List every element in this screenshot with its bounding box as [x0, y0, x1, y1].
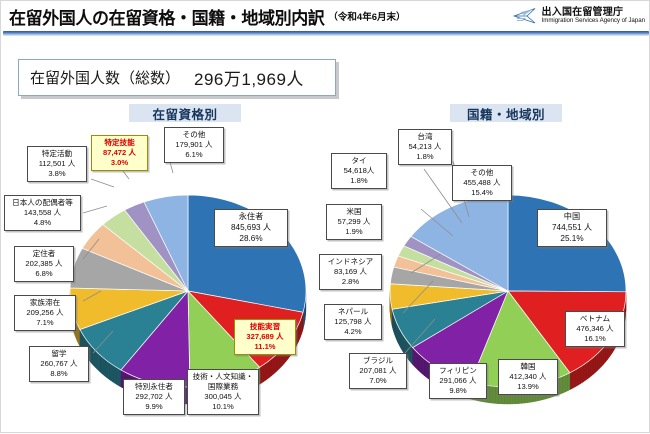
label-count: 57,299 人 — [330, 217, 378, 227]
section-banner-status: 在留資格別 — [129, 104, 241, 122]
label-title: ベトナム — [569, 314, 621, 324]
label-count: 300,045 人 — [191, 392, 255, 402]
page-title: 在留外国人の在留資格・国籍・地域別内訳 — [9, 4, 324, 29]
label-taiwan: 台湾 54,213 人 1.8% — [398, 129, 452, 165]
label-count: 845,693 人 — [218, 223, 284, 234]
label-other-nationality: その他 455,488 人 15.4% — [452, 165, 512, 201]
label-percent: 6.8% — [18, 269, 70, 279]
label-percent: 11.1% — [238, 342, 292, 352]
pie-slice-side — [426, 360, 427, 378]
label-percent: 28.6% — [218, 234, 284, 245]
pie-slice-side — [422, 356, 423, 374]
label-percent: 1.8% — [335, 176, 383, 186]
pie-slice-side — [275, 355, 277, 373]
label-percent: 6.1% — [168, 150, 220, 160]
label-title: 特定技能 — [95, 138, 144, 148]
label-percent: 4.2% — [328, 327, 378, 337]
label-student: 留学 260,767 人 8.8% — [29, 346, 89, 382]
pie-slice-side — [573, 370, 576, 389]
label-china: 中国 744,551 人 25.1% — [537, 209, 607, 247]
label-count: 209,256 人 — [18, 308, 72, 318]
pie-slice-side — [419, 354, 420, 372]
label-count: 87,472 人 — [95, 148, 144, 158]
pie-slice-side — [562, 375, 565, 393]
pie-slice-side — [268, 360, 270, 378]
pie-slice-side — [602, 347, 604, 366]
label-title: ブラジル — [353, 356, 403, 366]
pie-slice-side — [604, 345, 606, 364]
pie-slice-side — [115, 366, 116, 384]
pie-slice-side — [270, 359, 272, 377]
label-title: その他 — [456, 168, 508, 178]
label-percent: 25.1% — [541, 234, 603, 245]
section-banner-nationality: 国籍・地域別 — [450, 104, 562, 122]
label-title: 台湾 — [402, 132, 448, 142]
label-count: 54,213 人 — [402, 142, 448, 152]
label-title: その他 — [168, 130, 220, 140]
label-count: 143,558 人 — [8, 208, 77, 218]
label-percent: 15.4% — [456, 188, 508, 198]
label-nepal: ネパール 125,798 人 4.2% — [324, 304, 382, 340]
label-count: 125,798 人 — [328, 317, 378, 327]
label-count: 412,340 人 — [502, 372, 554, 382]
pie-slice-side — [578, 367, 581, 386]
pie-slice-side — [583, 363, 586, 382]
pie-slice-side — [118, 368, 119, 386]
pie-slice-side — [490, 386, 493, 403]
label-percent: 7.1% — [18, 318, 72, 328]
label-count: 476,346 人 — [569, 324, 621, 334]
pie-slice-side — [570, 371, 573, 389]
pie-slice-side — [273, 356, 275, 374]
pie-slice-side — [487, 385, 490, 402]
agency-identity: 出入国在留管理庁 Immigration Services Agency of … — [512, 6, 645, 26]
label-title: 米国 — [330, 207, 378, 217]
pie-slice-side — [110, 363, 111, 381]
label-percent: 2.8% — [323, 277, 378, 287]
pie-slice-side — [567, 373, 569, 391]
label-title: 韓国 — [502, 362, 554, 372]
label-count: 112,501 人 — [31, 159, 83, 169]
total-label: 在留外国人数（総数） — [30, 67, 180, 88]
label-korea: 韓国 412,340 人 13.9% — [498, 359, 558, 395]
label-designated-activities: 特定活動 112,501 人 3.8% — [27, 146, 87, 182]
pie-slice-side — [116, 367, 117, 385]
pie-slice-side — [119, 369, 120, 387]
label-title: 特定活動 — [31, 149, 83, 159]
pie-slice-side — [581, 365, 584, 384]
label-title: 留学 — [33, 349, 85, 359]
total-value: 296万1,969人 — [194, 65, 304, 90]
label-title: インドネシア — [323, 257, 378, 267]
label-percent: 10.1% — [191, 402, 255, 412]
label-title-2: 国際業務 — [191, 382, 255, 392]
label-engineer-specialist: 技術・人文知識・ 国際業務 300,045 人 10.1% — [187, 369, 259, 415]
label-percent: 1.8% — [402, 152, 448, 162]
label-brazil: ブラジル 207,081 人 7.0% — [349, 353, 407, 389]
label-percent: 3.8% — [31, 169, 83, 179]
label-count: 455,488 人 — [456, 178, 508, 188]
label-count: 54,618人 — [335, 166, 383, 176]
pie-slice-side — [575, 368, 578, 387]
label-count: 83,169 人 — [323, 267, 378, 277]
pie-slice-side — [261, 365, 263, 383]
infographic-page: 在留外国人の在留資格・国籍・地域別内訳 （令和4年6月末） 出入国在留管理庁 I… — [0, 0, 650, 433]
label-percent: 8.8% — [33, 369, 85, 379]
label-title: 技術・人文知識・ — [191, 372, 255, 382]
label-percent: 4.8% — [8, 218, 77, 228]
label-title: 特別永住者 — [127, 382, 181, 392]
label-title: ネパール — [328, 307, 378, 317]
pie-slice-side — [111, 364, 112, 382]
pie-slice-side — [114, 366, 115, 384]
label-other-status: その他 179,901 人 6.1% — [164, 127, 224, 163]
pie-slice-side — [260, 366, 262, 384]
label-count: 260,767 人 — [33, 359, 85, 369]
label-philippines: フィリピン 291,066 人 9.8% — [429, 363, 487, 399]
label-permanent-resident: 永住者 845,693 人 28.6% — [214, 209, 288, 247]
immigration-agency-logo-icon — [512, 6, 538, 26]
label-specified-skilled-worker: 特定技能 87,472 人 3.0% — [91, 135, 148, 171]
label-title: 日本人の配偶者等 — [8, 198, 77, 208]
pie-slice-side — [595, 354, 597, 373]
pie-slice-side — [588, 359, 590, 378]
label-title: 定住者 — [18, 249, 70, 259]
label-thailand: タイ 54,618人 1.8% — [331, 153, 387, 189]
page-header: 在留外国人の在留資格・国籍・地域別内訳 （令和4年6月末） 出入国在留管理庁 I… — [1, 1, 650, 31]
label-count: 207,081 人 — [353, 366, 403, 376]
label-title: タイ — [335, 156, 383, 166]
pie-slice-side — [420, 355, 421, 373]
label-long-term-resident: 定住者 202,385 人 6.8% — [14, 246, 74, 282]
header-divider — [3, 31, 649, 36]
page-title-date: （令和4年6月末） — [328, 9, 405, 24]
label-technical-intern-training: 技能実習 327,689 人 11.1% — [234, 319, 296, 355]
section-banner-status-label: 在留資格別 — [152, 104, 217, 123]
pie-slice-side — [267, 361, 269, 379]
label-spouse-of-japanese: 日本人の配偶者等 143,558 人 4.8% — [4, 195, 81, 231]
label-count: 292,702 人 — [127, 392, 181, 402]
label-count: 291,066 人 — [433, 376, 483, 386]
pie-slice-side — [272, 357, 274, 375]
label-percent: 9.8% — [433, 386, 483, 396]
pie-slice-side — [565, 374, 567, 392]
pie-slice-side — [263, 364, 265, 382]
section-banner-nationality-label: 国籍・地域別 — [467, 104, 545, 123]
label-usa: 米国 57,299 人 1.9% — [326, 204, 382, 240]
pie-slice-side — [493, 386, 496, 403]
pie-slice-side — [597, 352, 599, 371]
pie-slice-side — [591, 358, 593, 377]
label-vietnam: ベトナム 476,346 人 16.1% — [565, 311, 625, 347]
label-percent: 9.9% — [127, 402, 181, 412]
pie-slice-side — [560, 376, 563, 394]
pie-slice-side — [586, 361, 588, 380]
pie-slice-side — [108, 362, 109, 380]
pie-slice-side — [276, 353, 277, 371]
pie-slice-side — [425, 359, 426, 377]
label-indonesia: インドネシア 83,169 人 2.8% — [319, 254, 382, 290]
label-title: フィリピン — [433, 366, 483, 376]
pie-slice-side — [112, 365, 113, 383]
total-population-box: 在留外国人数（総数） 296万1,969人 — [18, 59, 336, 96]
label-title: 永住者 — [218, 212, 284, 223]
pie-slice-side — [265, 363, 267, 381]
label-title: 家族滞在 — [18, 298, 72, 308]
label-count: 179,901 人 — [168, 140, 220, 150]
pie-slice-side — [423, 358, 424, 376]
label-percent: 1.9% — [330, 227, 378, 237]
pie-slice-side — [600, 349, 602, 368]
agency-name-en: Immigration Services Agency of Japan — [542, 18, 645, 25]
label-percent: 3.0% — [95, 158, 144, 168]
label-percent: 16.1% — [569, 334, 621, 344]
pie-slice-side — [593, 356, 595, 375]
label-percent: 13.9% — [502, 382, 554, 392]
label-count: 202,385 人 — [18, 259, 70, 269]
label-percent: 7.0% — [353, 376, 403, 386]
label-special-permanent-resident: 特別永住者 292,702 人 9.9% — [123, 379, 185, 415]
label-count: 744,551 人 — [541, 223, 603, 234]
label-title: 技能実習 — [238, 322, 292, 332]
label-count: 327,689 人 — [238, 332, 292, 342]
label-dependent: 家族滞在 209,256 人 7.1% — [14, 295, 76, 331]
label-title: 中国 — [541, 212, 603, 223]
